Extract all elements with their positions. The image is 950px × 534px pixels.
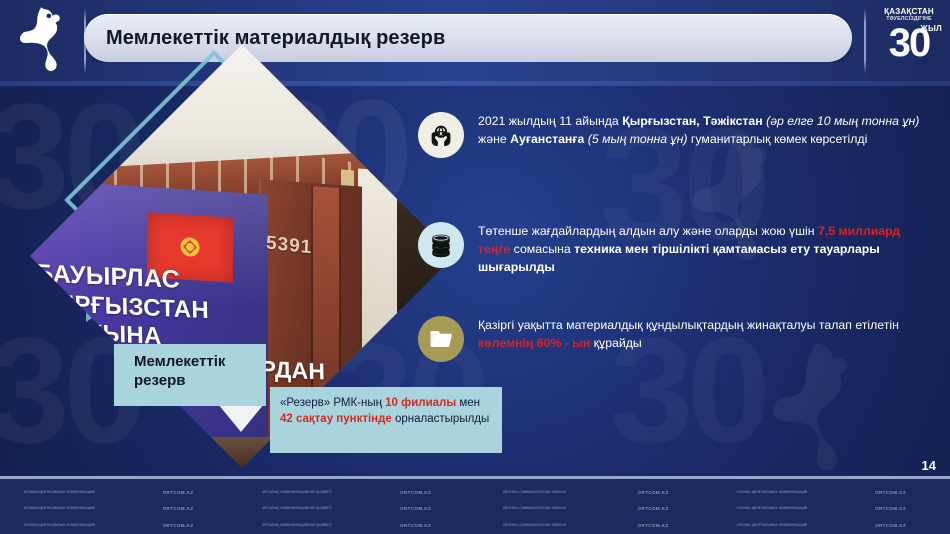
footer-brand: ORTCOM.KZ — [356, 489, 475, 497]
page-number: 14 — [922, 458, 936, 473]
text-part-bold: Қырғызстан, Тәжікстан — [622, 114, 763, 128]
footer-watermark-text: СЛУЖБА ЦЕНТРАЛЬНЫХ КОММУНИКАЦИЙ — [0, 489, 119, 497]
footer-watermark-text: CENTRAL COMMUNICATIONS SERVICE — [475, 522, 594, 530]
footer-brand: ORTCOM.KZ — [831, 522, 950, 530]
stacked-coins-icon — [418, 222, 464, 268]
hands-holding-globe-icon — [418, 112, 464, 158]
callout-highlight-branches: 10 филиалы — [385, 397, 456, 409]
bullet-text: Төтенше жағдайлардың алдын алу және олар… — [478, 222, 918, 276]
callout-mid: мен — [456, 397, 480, 409]
footer-watermark-text: СЛУЖБА ЦЕНТРАЛЬНЫХ КОММУНИКАЦИЙ — [713, 489, 832, 497]
text-part-bold: Ауғанстанға — [510, 132, 584, 146]
slide-header: Мемлекеттік материалдық резерв ҚАЗАҚСТАН… — [0, 0, 950, 86]
branches-callout-box: «Резерв» РМК-ның 10 филиалы мен 42 сақта… — [270, 387, 502, 453]
slide-footer: СЛУЖБА ЦЕНТРАЛЬНЫХ КОММУНИКАЦИЙORTCOM.KZ… — [0, 476, 950, 534]
callout-pre: «Резерв» РМК-ның — [280, 397, 385, 409]
footer-watermark-text: ОРТАЛЫҚ КОММУНИКАЦИЯЛАР ҚЫЗМЕТІ — [238, 505, 357, 513]
snow-leopard-emblem-icon — [14, 6, 72, 78]
text-part: Төтенше жағдайлардың алдын алу және олар… — [478, 224, 818, 238]
footer-watermark-text: CENTRAL COMMUNICATIONS SERVICE — [475, 505, 594, 513]
footer-watermark-text: СЛУЖБА ЦЕНТРАЛЬНЫХ КОММУНИКАЦИЙ — [713, 522, 832, 530]
anniversary-line1: ҚАЗАҚСТАН — [876, 8, 942, 16]
text-part-italic: (5 мың тонна ұн) — [584, 132, 687, 146]
footer-brand: ORTCOM.KZ — [594, 505, 713, 513]
text-part: сомасына — [510, 242, 574, 256]
text-part-highlight: көлемнің 60% - ын — [478, 336, 590, 350]
bullet-text: 2021 жылдың 11 айында Қырғызстан, Тәжікс… — [478, 112, 938, 148]
text-part: гуманитарлық көмек көрсетілді — [688, 132, 868, 146]
footer-watermark-strip: СЛУЖБА ЦЕНТРАЛЬНЫХ КОММУНИКАЦИЙORTCOM.KZ… — [0, 484, 950, 534]
footer-brand: ORTCOM.KZ — [119, 505, 238, 513]
footer-brand: ORTCOM.KZ — [594, 489, 713, 497]
branches-callout-text: «Резерв» РМК-ның 10 филиалы мен 42 сақта… — [280, 395, 494, 428]
reserve-label-line1: Мемлекеттік — [134, 352, 266, 371]
anniversary-unit: ЖЫЛ — [920, 24, 942, 33]
text-part: құрайды — [590, 336, 642, 350]
page-title: Мемлекеттік материалдық резерв — [106, 27, 445, 50]
footer-watermark-text: ОРТАЛЫҚ КОММУНИКАЦИЯЛАР ҚЫЗМЕТІ — [238, 522, 357, 530]
text-part: және — [478, 132, 510, 146]
text-part-italic: (әр елге 10 мың тонна ұн) — [763, 114, 920, 128]
slide-root: 30 30 30 30 30 30 Мемлекеттік материалды… — [0, 0, 950, 534]
footer-brand: ORTCOM.KZ — [831, 505, 950, 513]
wagon-number: 5391 — [265, 232, 312, 259]
callout-highlight-points: 42 сақтау пунктінде — [280, 413, 392, 425]
diamond-bottom-tip-decoration — [218, 404, 264, 432]
header-divider-right — [864, 8, 866, 74]
bullet-humanitarian-aid: 2021 жылдың 11 айында Қырғызстан, Тәжікс… — [418, 112, 938, 158]
open-folder-icon — [418, 316, 464, 362]
footer-brand: ORTCOM.KZ — [594, 522, 713, 530]
footer-watermark-text: ОРТАЛЫҚ КОММУНИКАЦИЯЛАР ҚЫЗМЕТІ — [238, 489, 357, 497]
bullet-emergency-funding: Төтенше жағдайлардың алдын алу және олар… — [418, 222, 918, 276]
anniversary-logo: ҚАЗАҚСТАН ТӘУЕЛСІЗДІГІНЕ 30 ЖЫЛ — [876, 4, 942, 78]
text-part: Қазіргі уақытта материалдық құндылықтард… — [478, 318, 899, 332]
title-pill: Мемлекеттік материалдық резерв — [84, 14, 852, 62]
footer-brand: ORTCOM.KZ — [831, 489, 950, 497]
callout-post: орналастырылды — [392, 413, 489, 425]
reserve-label-line2: резерв — [134, 371, 266, 390]
text-part: 2021 жылдың 11 айында — [478, 114, 622, 128]
footer-watermark-text: СЛУЖБА ЦЕНТРАЛЬНЫХ КОММУНИКАЦИЙ — [0, 505, 119, 513]
footer-brand: ORTCOM.KZ — [356, 505, 475, 513]
reserve-label-box: Мемлекеттік резерв — [114, 344, 266, 406]
bullet-text: Қазіргі уақытта материалдық құндылықтард… — [478, 316, 918, 352]
footer-watermark-text: СЛУЖБА ЦЕНТРАЛЬНЫХ КОММУНИКАЦИЙ — [0, 522, 119, 530]
footer-watermark-text: CENTRAL COMMUNICATIONS SERVICE — [475, 489, 594, 497]
footer-watermark-text: СЛУЖБА ЦЕНТРАЛЬНЫХ КОММУНИКАЦИЙ — [713, 505, 832, 513]
footer-brand: ORTCOM.KZ — [356, 522, 475, 530]
footer-brand: ORTCOM.KZ — [119, 489, 238, 497]
footer-brand: ORTCOM.KZ — [119, 522, 238, 530]
bullet-stock-level: Қазіргі уақытта материалдық құндылықтард… — [418, 316, 918, 362]
